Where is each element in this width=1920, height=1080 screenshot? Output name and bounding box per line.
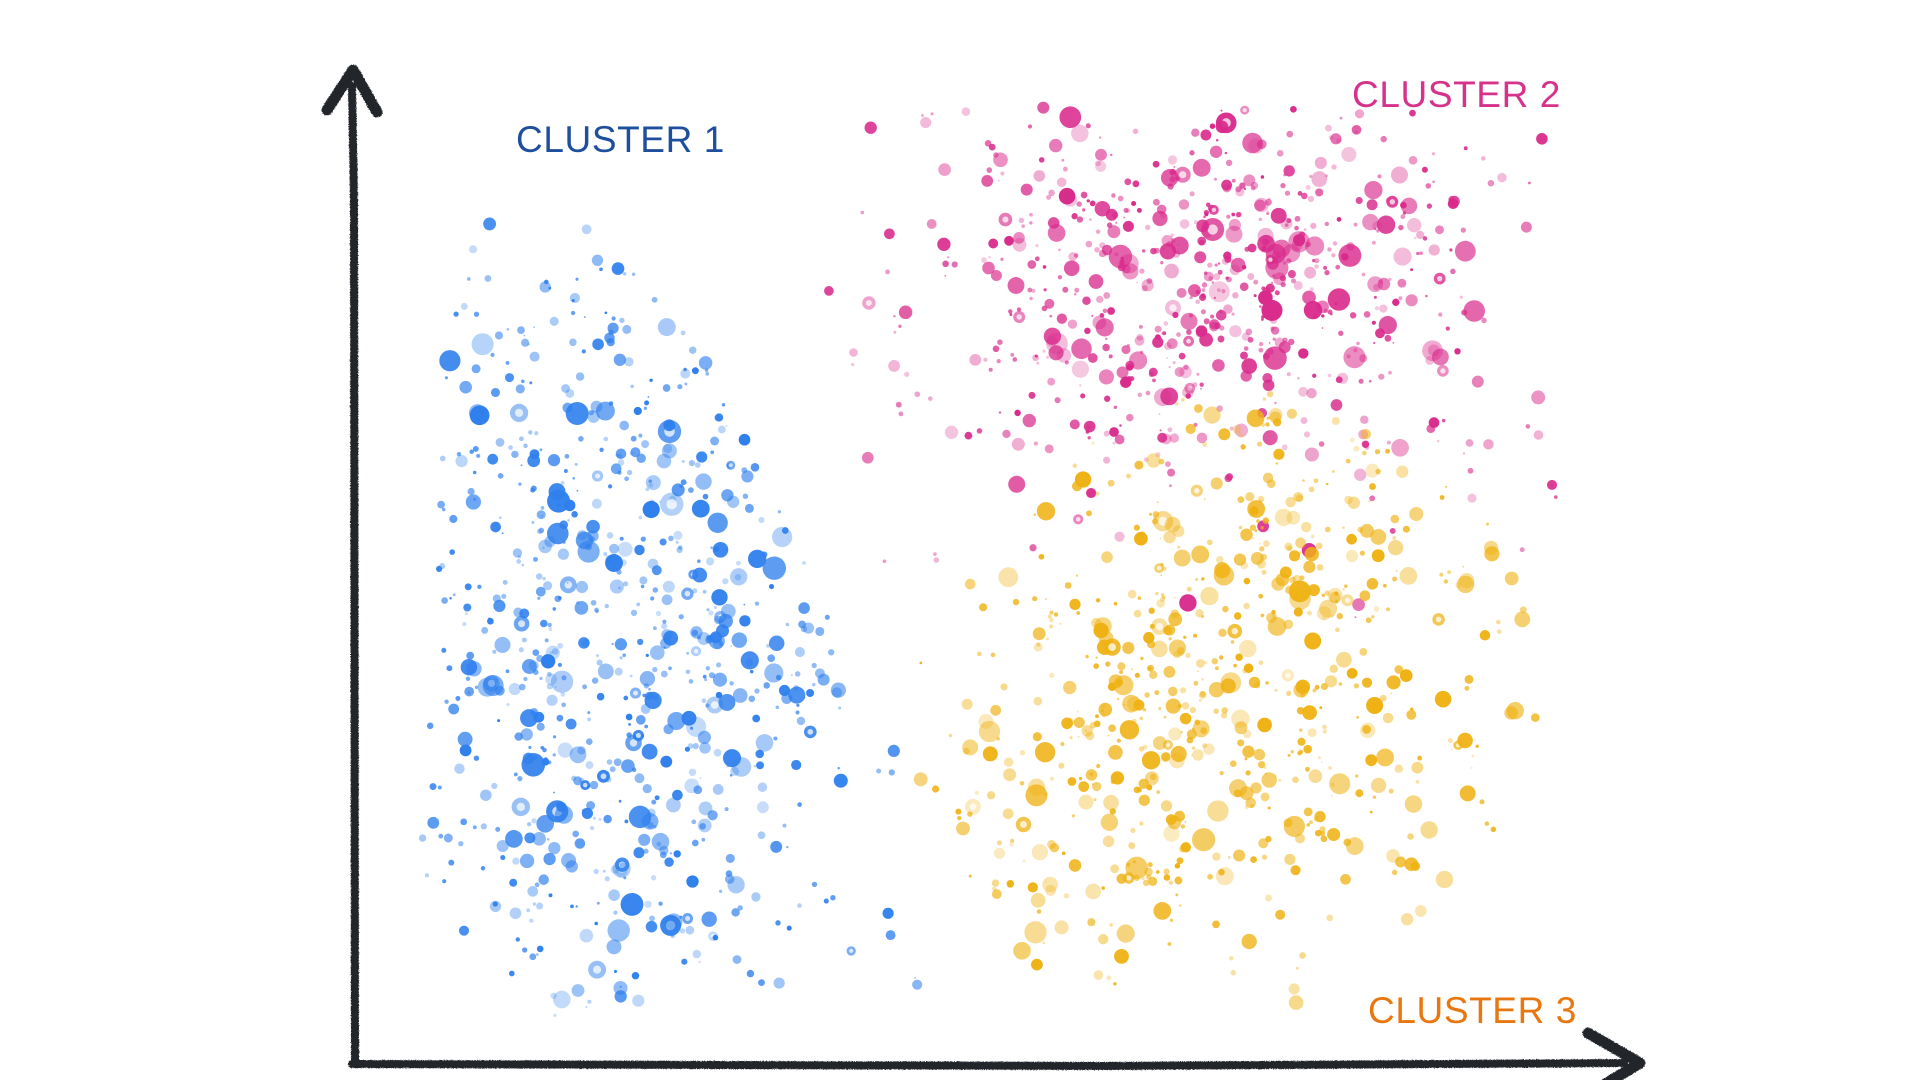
cluster-points-3 [914,391,1540,1010]
cluster-2-label: CLUSTER 2 [1352,76,1561,113]
cluster-points-1 [419,217,922,1017]
cluster-points-2 [824,102,1558,619]
cluster-1-label: CLUSTER 1 [516,121,725,158]
scatter-points-layer [0,0,1920,1080]
cluster-3-label: CLUSTER 3 [1368,992,1577,1029]
scatter-plot-figure: CLUSTER 1 CLUSTER 2 CLUSTER 3 [0,0,1920,1080]
